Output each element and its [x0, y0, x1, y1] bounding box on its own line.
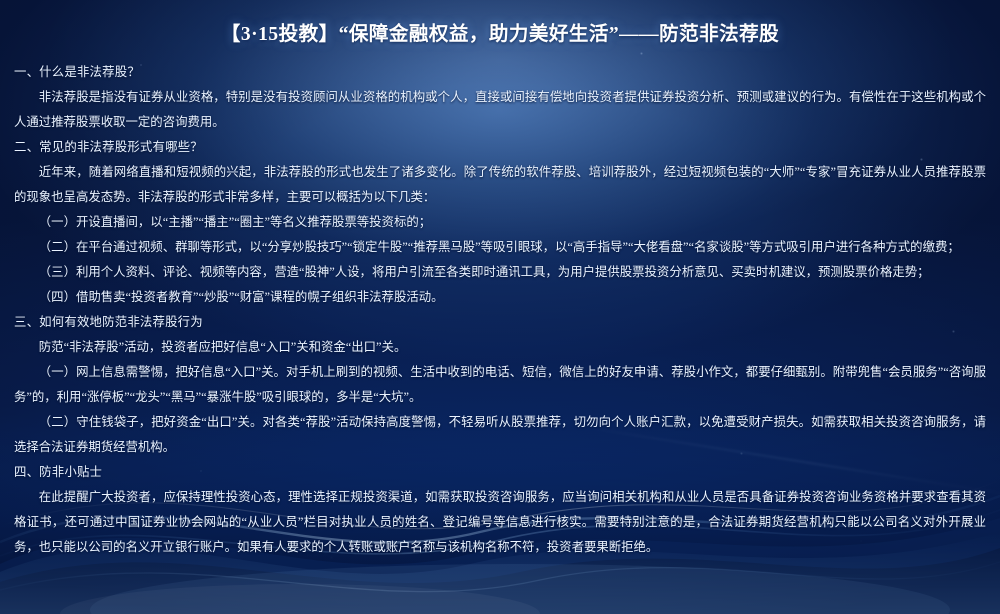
- section-2-paragraph: 近年来，随着网络直播和短视频的兴起，非法荐股的形式也发生了诸多变化。除了传统的软…: [14, 160, 986, 210]
- section-1-heading: 一、什么是非法荐股？: [14, 60, 986, 85]
- section-2-heading: 二、常见的非法荐股形式有哪些？: [14, 135, 986, 160]
- section-2-item-4: （四）借助售卖“投资者教育”“炒股”“财富”课程的幌子组织非法荐股活动。: [14, 285, 986, 310]
- section-2-item-2: （二）在平台通过视频、群聊等形式，以“分享炒股技巧”“锁定牛股”“推荐黑马股”等…: [14, 235, 986, 260]
- section-2-item-3: （三）利用个人资料、评论、视频等内容，营造“股神”人设，将用户引流至各类即时通讯…: [14, 260, 986, 285]
- section-4-paragraph: 在此提醒广大投资者，应保持理性投资心态，理性选择正规投资渠道，如需获取投资咨询服…: [14, 485, 986, 560]
- section-3-item-1: （一）网上信息需警惕，把好信息“入口”关。对手机上刷到的视频、生活中收到的电话、…: [14, 360, 986, 410]
- section-2-item-1: （一）开设直播间，以“主播”“播主”“圈主”等名义推荐股票等投资标的；: [14, 210, 986, 235]
- poster-canvas: 【3·15投教】“保障金融权益，助力美好生活”——防范非法荐股 一、什么是非法荐…: [0, 0, 1000, 614]
- page-title: 【3·15投教】“保障金融权益，助力美好生活”——防范非法荐股: [14, 0, 986, 46]
- article-body: 一、什么是非法荐股？ 非法荐股是指没有证券从业资格，特别是没有投资顾问从业资格的…: [14, 60, 986, 560]
- section-1-paragraph: 非法荐股是指没有证券从业资格，特别是没有投资顾问从业资格的机构或个人，直接或间接…: [14, 85, 986, 135]
- section-3-item-2: （二）守住钱袋子，把好资金“出口”关。对各类“荐股”活动保持高度警惕，不轻易听从…: [14, 410, 986, 460]
- section-3-paragraph: 防范“非法荐股”活动，投资者应把好信息“入口”关和资金“出口”关。: [14, 335, 986, 360]
- section-4-heading: 四、防非小贴士: [14, 460, 986, 485]
- poster-content: 【3·15投教】“保障金融权益，助力美好生活”——防范非法荐股 一、什么是非法荐…: [0, 0, 1000, 560]
- section-3-heading: 三、如何有效地防范非法荐股行为: [14, 310, 986, 335]
